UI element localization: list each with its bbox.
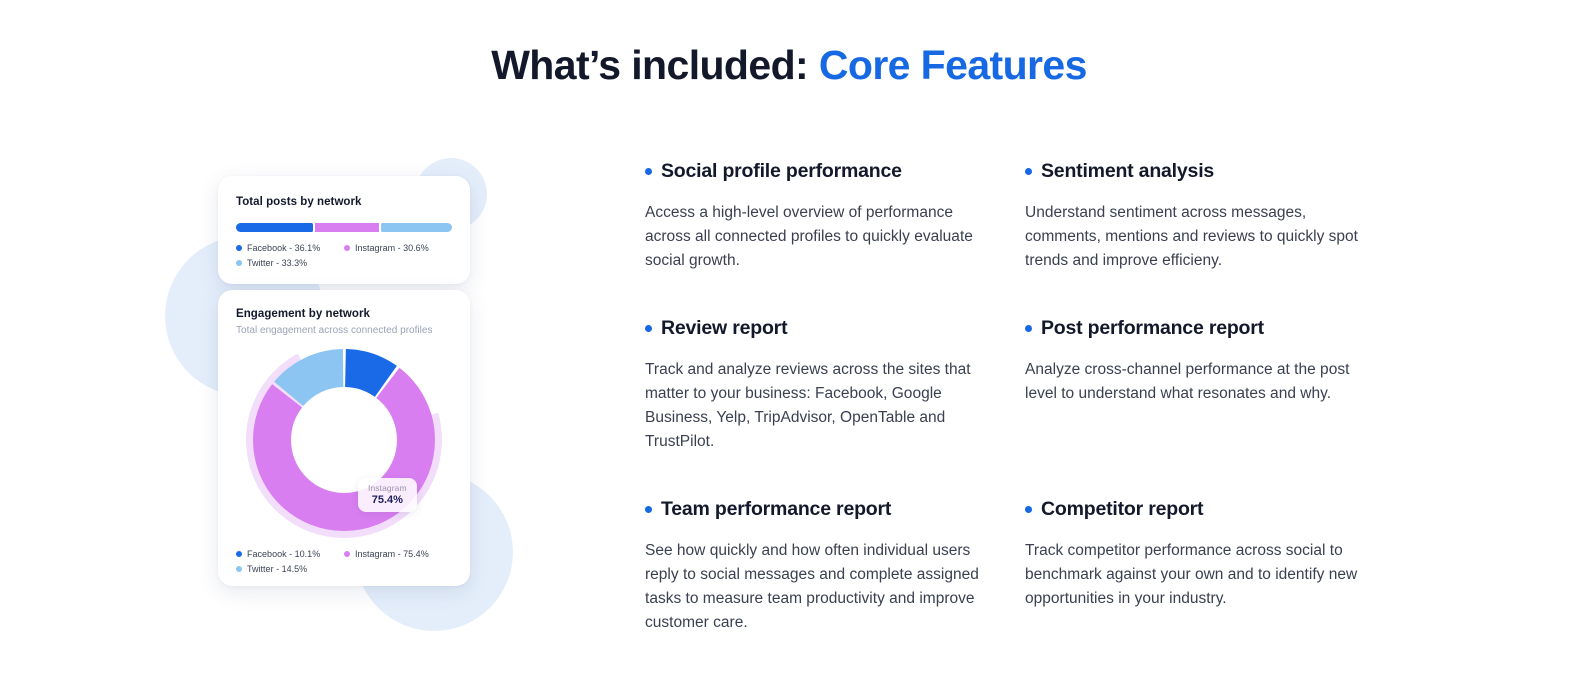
legend-dot-instagram bbox=[344, 245, 350, 251]
page-title-accent: Core Features bbox=[819, 42, 1087, 88]
bullet-dot-icon bbox=[1025, 506, 1032, 513]
bar-segment-instagram bbox=[315, 223, 380, 232]
donut-tooltip-value: 75.4% bbox=[368, 494, 407, 506]
bar-segment-twitter bbox=[381, 223, 452, 232]
legend-item: Instagram - 75.4% bbox=[344, 549, 452, 559]
page-title-prefix: What’s included: bbox=[491, 42, 819, 88]
legend-label: Facebook - 36.1% bbox=[247, 243, 320, 253]
legend-dot-twitter bbox=[236, 566, 242, 572]
bar-segment-facebook bbox=[236, 223, 313, 232]
bullet-dot-icon bbox=[1025, 168, 1032, 175]
feature-body: Analyze cross-channel performance at the… bbox=[1025, 358, 1380, 406]
donut-tooltip: Instagram 75.4% bbox=[358, 478, 417, 512]
feature-body: See how quickly and how often individual… bbox=[645, 539, 1000, 635]
bullet-dot-icon bbox=[645, 506, 652, 513]
total-posts-stacked-bar bbox=[236, 223, 452, 232]
bullet-dot-icon bbox=[645, 325, 652, 332]
feature-body: Access a high-level overview of performa… bbox=[645, 201, 1000, 273]
legend-label: Instagram - 75.4% bbox=[355, 549, 429, 559]
engagement-legend: Facebook - 10.1% Instagram - 75.4% Twitt… bbox=[236, 549, 452, 574]
legend-dot-twitter bbox=[236, 260, 242, 266]
legend-label: Twitter - 33.3% bbox=[247, 258, 307, 268]
bullet-dot-icon bbox=[1025, 325, 1032, 332]
feature-title: Post performance report bbox=[1041, 317, 1264, 340]
feature-heading: Team performance report bbox=[645, 498, 1000, 521]
feature-heading: Social profile performance bbox=[645, 160, 1000, 183]
feature-title: Sentiment analysis bbox=[1041, 160, 1214, 183]
donut-tooltip-label: Instagram bbox=[368, 483, 407, 493]
feature-social-profile-performance: Social profile performance Access a high… bbox=[645, 160, 1000, 273]
legend-item: Twitter - 14.5% bbox=[236, 564, 344, 574]
page-title: What’s included: Core Features bbox=[0, 42, 1578, 89]
feature-heading: Competitor report bbox=[1025, 498, 1380, 521]
legend-dot-facebook bbox=[236, 245, 242, 251]
feature-sentiment-analysis: Sentiment analysis Understand sentiment … bbox=[1025, 160, 1380, 273]
legend-item: Twitter - 33.3% bbox=[236, 258, 344, 268]
total-posts-legend: Facebook - 36.1% Instagram - 30.6% Twitt… bbox=[236, 243, 452, 268]
bullet-dot-icon bbox=[645, 168, 652, 175]
feature-title: Social profile performance bbox=[661, 160, 902, 183]
page-root: What’s included: Core Features Total pos… bbox=[0, 0, 1578, 690]
feature-heading: Post performance report bbox=[1025, 317, 1380, 340]
feature-body: Understand sentiment across messages, co… bbox=[1025, 201, 1380, 273]
legend-label: Instagram - 30.6% bbox=[355, 243, 429, 253]
engagement-title: Engagement by network bbox=[236, 308, 452, 320]
engagement-donut-chart: Instagram 75.4% bbox=[236, 342, 452, 538]
legend-label: Twitter - 14.5% bbox=[247, 564, 307, 574]
feature-title: Team performance report bbox=[661, 498, 891, 521]
feature-title: Review report bbox=[661, 317, 787, 340]
feature-body: Track and analyze reviews across the sit… bbox=[645, 358, 1000, 454]
legend-dot-instagram bbox=[344, 551, 350, 557]
feature-post-performance-report: Post performance report Analyze cross-ch… bbox=[1025, 317, 1380, 454]
feature-heading: Sentiment analysis bbox=[1025, 160, 1380, 183]
legend-label: Facebook - 10.1% bbox=[247, 549, 320, 559]
feature-competitor-report: Competitor report Track competitor perfo… bbox=[1025, 498, 1380, 635]
total-posts-title: Total posts by network bbox=[236, 196, 452, 208]
legend-dot-facebook bbox=[236, 551, 242, 557]
engagement-subtitle: Total engagement across connected profil… bbox=[236, 325, 452, 336]
legend-item: Facebook - 36.1% bbox=[236, 243, 344, 253]
core-features-grid: Social profile performance Access a high… bbox=[645, 160, 1405, 635]
feature-review-report: Review report Track and analyze reviews … bbox=[645, 317, 1000, 454]
dashboard-illustration: Total posts by network Facebook - 36.1% … bbox=[160, 148, 540, 648]
total-posts-card: Total posts by network Facebook - 36.1% … bbox=[218, 176, 470, 284]
legend-item: Instagram - 30.6% bbox=[344, 243, 452, 253]
feature-body: Track competitor performance across soci… bbox=[1025, 539, 1380, 611]
feature-team-performance-report: Team performance report See how quickly … bbox=[645, 498, 1000, 635]
feature-title: Competitor report bbox=[1041, 498, 1203, 521]
feature-heading: Review report bbox=[645, 317, 1000, 340]
engagement-card: Engagement by network Total engagement a… bbox=[218, 290, 470, 586]
legend-item: Facebook - 10.1% bbox=[236, 549, 344, 559]
